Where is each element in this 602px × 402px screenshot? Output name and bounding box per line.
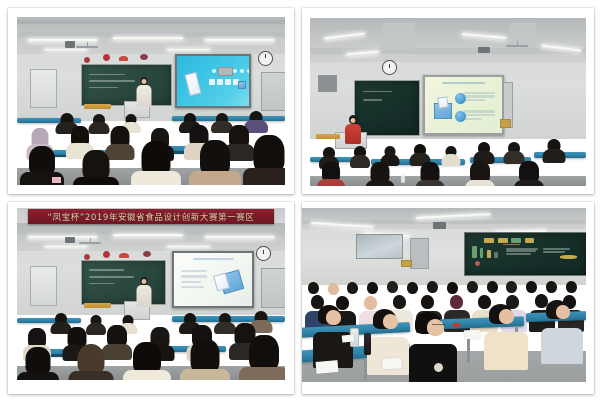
foreground-student-5 bbox=[541, 300, 586, 356]
answer-sheet-1 bbox=[316, 360, 339, 374]
photo-panel-bottom-right bbox=[302, 202, 594, 394]
photo-image-top-right bbox=[310, 18, 586, 186]
answer-sheet-2 bbox=[381, 357, 402, 369]
photo-panel-bottom-left: “凤宝杯”2019年安徽省食品设计创新大赛第一赛区 bbox=[8, 202, 294, 394]
competition-banner: “凤宝杯”2019年安徽省食品设计创新大赛第一赛区 bbox=[28, 209, 275, 224]
answer-sheet-4 bbox=[341, 334, 354, 342]
photo-image-bottom-left: “凤宝杯”2019年安徽省食品设计创新大赛第一赛区 bbox=[17, 208, 285, 380]
foreground-student-4 bbox=[484, 304, 529, 360]
photo-panel-top-left bbox=[8, 8, 294, 194]
photo-collage: “凤宝杯”2019年安徽省食品设计创新大赛第一赛区 bbox=[0, 0, 602, 402]
black-tumbler bbox=[364, 333, 371, 355]
photo-image-bottom-right bbox=[302, 208, 586, 382]
photo-image-top-left bbox=[17, 17, 285, 185]
foreground-student-2 bbox=[367, 309, 412, 365]
photo-panel-top-right bbox=[302, 8, 594, 194]
red-marker bbox=[453, 323, 460, 327]
banner-text: “凤宝杯”2019年安徽省食品设计创新大赛第一赛区 bbox=[48, 211, 255, 223]
decorated-blackboard bbox=[464, 232, 586, 276]
answer-sheet-3 bbox=[464, 329, 480, 339]
